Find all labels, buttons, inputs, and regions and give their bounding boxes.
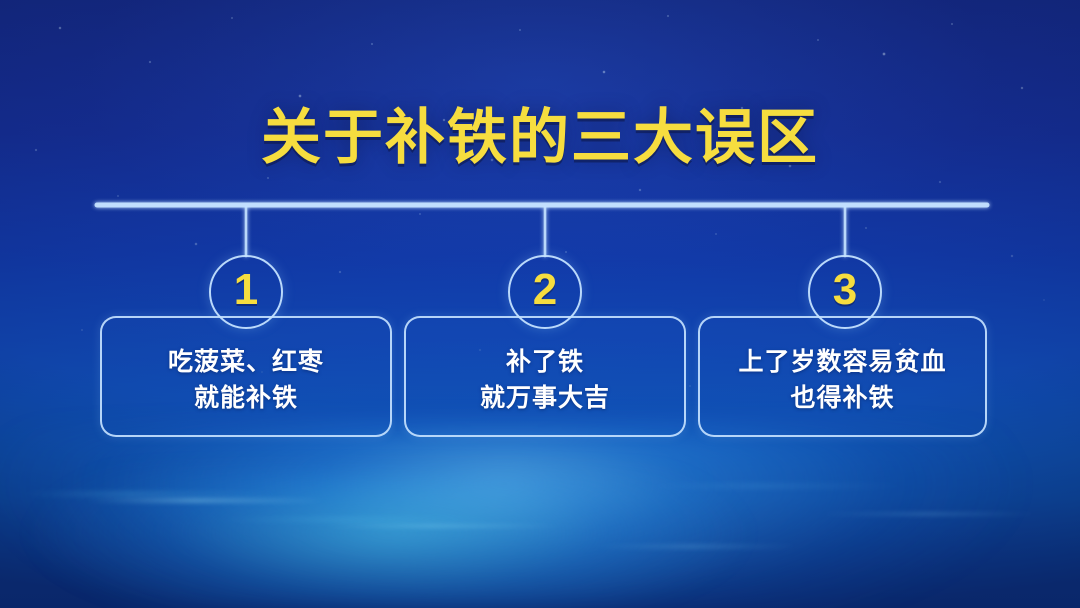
step-badge-2-number: 2 — [533, 268, 557, 312]
step-badge-1-number: 1 — [234, 268, 258, 312]
card-3-line-2: 也得补铁 — [700, 380, 985, 416]
misconception-card-1[interactable]: 吃菠菜、红枣 就能补铁 — [100, 316, 392, 437]
card-1-line-2: 就能补铁 — [102, 380, 390, 416]
card-1-line-1: 吃菠菜、红枣 — [102, 343, 390, 379]
step-badge-3[interactable]: 3 — [808, 255, 882, 329]
step-badge-2[interactable]: 2 — [508, 255, 582, 329]
card-1-text: 吃菠菜、红枣 就能补铁 — [102, 337, 390, 416]
slide-canvas: 关于补铁的三大误区 吃菠菜、红枣 就能补铁 — [0, 0, 1080, 608]
misconception-card-3[interactable]: 上了岁数容易贫血 也得补铁 — [698, 316, 987, 437]
step-badge-3-number: 3 — [833, 268, 857, 312]
card-3-text: 上了岁数容易贫血 也得补铁 — [700, 337, 985, 416]
card-2-line-1: 补了铁 — [406, 343, 684, 379]
misconception-card-2[interactable]: 补了铁 就万事大吉 — [404, 316, 686, 437]
card-group: 吃菠菜、红枣 就能补铁 补了铁 就万事大吉 上了岁数容易贫血 也得补铁 1 2 … — [0, 0, 1080, 608]
card-2-text: 补了铁 就万事大吉 — [406, 337, 684, 416]
card-3-line-1: 上了岁数容易贫血 — [700, 343, 985, 379]
step-badge-1[interactable]: 1 — [209, 255, 283, 329]
card-2-line-2: 就万事大吉 — [406, 380, 684, 416]
